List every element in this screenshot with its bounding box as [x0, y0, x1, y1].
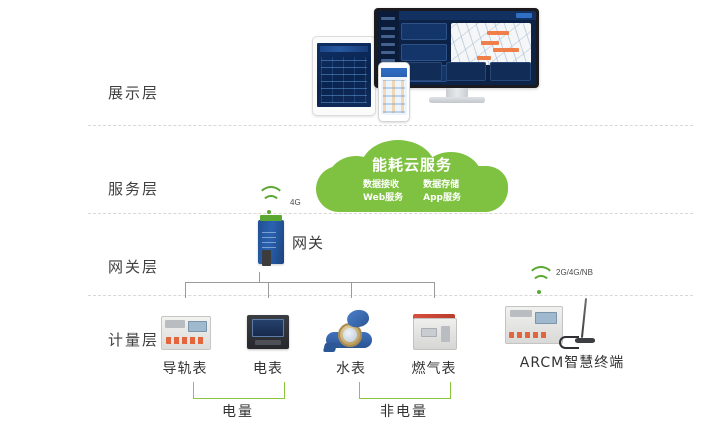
phone-screen: [381, 68, 407, 115]
cloud-feature-data-receive: 数据接收: [363, 179, 403, 192]
water-meter-icon: [314, 310, 388, 354]
arcm-terminal-label: ARCM智慧终端: [485, 352, 659, 372]
gateway-to-meters-connector: [185, 272, 435, 298]
cloud-icon: 能耗云服务 数据接收 Web服务 数据存储 App服务: [316, 140, 508, 212]
dashboard-charts: [401, 62, 531, 81]
gateway-network-tag: 4G: [290, 198, 301, 207]
architecture-diagram: 展示层 服务层 网关层 计量层: [0, 0, 715, 443]
meter-water: 水表: [314, 310, 388, 378]
meter-label-water: 水表: [314, 358, 388, 378]
arcm-terminal-icon: [505, 306, 563, 344]
meter-gas: 燃气表: [397, 310, 471, 378]
divider-service-gateway: [88, 213, 693, 214]
gateway-label: 网关: [292, 232, 324, 253]
tablet-screen: [317, 43, 371, 107]
terminal-wifi-signal-icon: [528, 276, 554, 294]
meter-din-rail: 导轨表: [148, 310, 222, 378]
antenna-cable: [559, 336, 579, 349]
meter-label-din-rail: 导轨表: [148, 358, 222, 378]
wifi-signal-icon: [258, 196, 284, 214]
din-rail-meter-icon: [148, 310, 222, 354]
divider-presentation-service: [88, 125, 693, 126]
layer-label-service: 服务层: [108, 178, 198, 199]
antenna-icon: [581, 298, 587, 338]
group-label-non-electric: 非电量: [359, 401, 449, 421]
cloud-features-right: 数据存储 App服务: [423, 179, 461, 205]
dashboard-topbar: [399, 11, 536, 20]
cloud-features-left: 数据接收 Web服务: [363, 179, 403, 205]
smartphone-device-icon: [378, 62, 410, 122]
cloud-feature-app-service: App服务: [423, 192, 461, 205]
arcm-terminal-buttons: [509, 332, 549, 338]
terminal-network-tag: 2G/4G/NB: [556, 268, 593, 277]
dashboard-map: [451, 23, 531, 65]
monitor-stand-neck: [446, 88, 468, 97]
group-label-electric: 电量: [193, 401, 283, 421]
meter-label-electricity: 电表: [231, 358, 305, 378]
cloud-feature-data-storage: 数据存储: [423, 179, 461, 192]
gateway-device-icon: [258, 220, 284, 264]
tablet-device-icon: [312, 36, 376, 116]
meter-electricity: 电表: [231, 310, 305, 378]
layer-label-presentation: 展示层: [108, 82, 198, 103]
bracket-non-electric-group: [359, 382, 451, 399]
monitor-stand-base: [429, 97, 485, 103]
cloud-feature-web-service: Web服务: [363, 192, 403, 205]
gateway-port: [262, 250, 271, 266]
gas-meter-icon: [397, 310, 471, 354]
cloud-text: 能耗云服务 数据接收 Web服务 数据存储 App服务: [316, 140, 508, 212]
presentation-devices: [300, 8, 550, 120]
arcm-terminal-node: ARCM智慧终端: [497, 296, 647, 372]
cloud-title: 能耗云服务: [316, 154, 508, 175]
bracket-electric-group: [193, 382, 285, 399]
panel-meter-icon: [231, 310, 305, 354]
meter-label-gas: 燃气表: [397, 358, 471, 378]
